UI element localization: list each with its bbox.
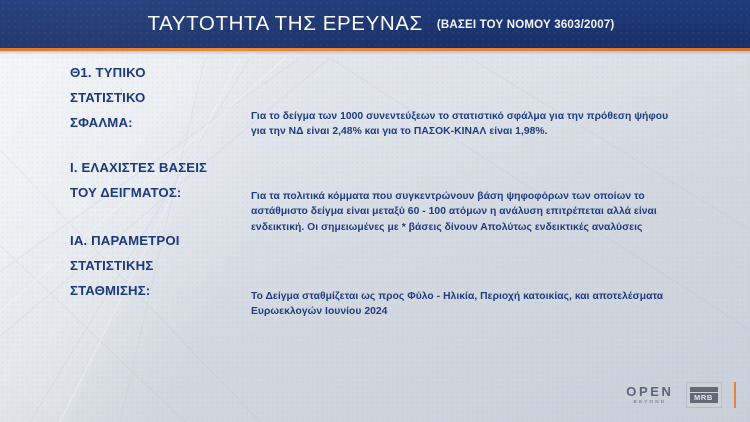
beyond-logo-text: BEYOND: [633, 400, 666, 405]
section-text-typiko-statistiko-sfalma: Για το δείγμα των 1000 συνεντεύξεων το σ…: [251, 109, 681, 140]
section-label-typiko-statistiko-sfalma: Θ1. ΤΥΠΙΚΟ ΣΤΑΤΙΣΤΙΚΟ ΣΦΑΛΜΑ:: [70, 60, 146, 135]
open-beyond-logo: OPEN BEYOND: [626, 385, 673, 405]
slide-root: ΤΑΥΤΟΤΗΤΑ ΤΗΣ ΕΡΕΥΝΑΣ (ΒΑΣΕΙ ΤΟΥ ΝΟΜΟΥ 3…: [0, 0, 750, 422]
content-area: Θ1. ΤΥΠΙΚΟ ΣΤΑΤΙΣΤΙΚΟ ΣΦΑΛΜΑ: Για το δεί…: [0, 55, 750, 422]
open-logo-text: OPEN: [626, 385, 673, 398]
section-label-parametroi-stathmisis: ΙΑ. ΠΑΡΑΜΕΤΡΟΙ ΣΤΑΤΙΣΤΙΚΗΣ ΣΤΑΘΜΙΣΗΣ:: [70, 228, 180, 303]
header-content: ΤΑΥΤΟΤΗΤΑ ΤΗΣ ΕΡΕΥΝΑΣ (ΒΑΣΕΙ ΤΟΥ ΝΟΜΟΥ 3…: [0, 0, 750, 48]
mrb-logo-bar: [690, 387, 718, 392]
page-title: ΤΑΥΤΟΤΗΤΑ ΤΗΣ ΕΡΕΥΝΑΣ: [148, 12, 423, 36]
mrb-logo-text: MRB: [690, 393, 718, 403]
section-label-elachistes-vaseis: Ι. ΕΛΑΧΙΣΤΕΣ ΒΑΣΕΙΣ ΤΟΥ ΔΕΙΓΜΑΤΟΣ:: [70, 155, 207, 205]
mrb-logo: MRB: [686, 382, 722, 408]
section-text-parametroi-stathmisis: Το Δείγμα σταθμίζεται ως προς Φύλο - Ηλι…: [251, 289, 681, 320]
footer-logos: OPEN BEYOND MRB: [626, 382, 736, 408]
footer-divider: [734, 382, 737, 408]
section-text-elachistes-vaseis: Για τα πολιτικά κόμματα που συγκεντρώνου…: [251, 189, 681, 235]
header-bar: ΤΑΥΤΟΤΗΤΑ ΤΗΣ ΕΡΕΥΝΑΣ (ΒΑΣΕΙ ΤΟΥ ΝΟΜΟΥ 3…: [0, 0, 750, 48]
page-subtitle: (ΒΑΣΕΙ ΤΟΥ ΝΟΜΟΥ 3603/2007): [437, 19, 615, 31]
